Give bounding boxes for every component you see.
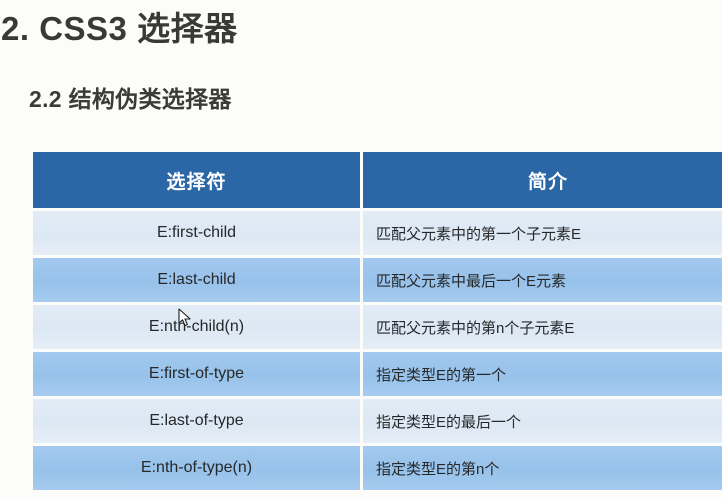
cell-selector: E:last-of-type <box>33 399 360 443</box>
page-title: 2. CSS3 选择器 <box>1 9 238 49</box>
table-header-row: 选择符 简介 <box>33 152 722 208</box>
cell-selector: E:nth-of-type(n) <box>33 446 360 490</box>
table-row: E:last-child 匹配父元素中最后一个E元素 <box>33 258 722 302</box>
selector-table: 选择符 简介 E:first-child 匹配父元素中的第一个子元素E E:la… <box>33 152 722 490</box>
table-row: E:nth-of-type(n) 指定类型E的第n个 <box>33 446 722 490</box>
table-row: E:last-of-type 指定类型E的最后一个 <box>33 399 722 443</box>
table-header-selector: 选择符 <box>33 152 360 208</box>
section-subtitle: 2.2 结构伪类选择器 <box>29 86 232 114</box>
cell-selector: E:first-child <box>33 211 360 255</box>
cell-description: 匹配父元素中的第n个子元素E <box>363 305 722 349</box>
slide-canvas: 2. CSS3 选择器 2.2 结构伪类选择器 选择符 简介 E:first-c… <box>0 0 722 500</box>
table-header-description: 简介 <box>363 152 722 208</box>
cell-description: 指定类型E的最后一个 <box>363 399 722 443</box>
cell-description: 指定类型E的第一个 <box>363 352 722 396</box>
cell-selector: E:last-child <box>33 258 360 302</box>
cell-description: 匹配父元素中的第一个子元素E <box>363 211 722 255</box>
cell-description: 指定类型E的第n个 <box>363 446 722 490</box>
cell-selector: E:first-of-type <box>33 352 360 396</box>
table-row: E:first-child 匹配父元素中的第一个子元素E <box>33 211 722 255</box>
table-row: E:nth-child(n) 匹配父元素中的第n个子元素E <box>33 305 722 349</box>
cell-selector: E:nth-child(n) <box>33 305 360 349</box>
table-row: E:first-of-type 指定类型E的第一个 <box>33 352 722 396</box>
cell-description: 匹配父元素中最后一个E元素 <box>363 258 722 302</box>
